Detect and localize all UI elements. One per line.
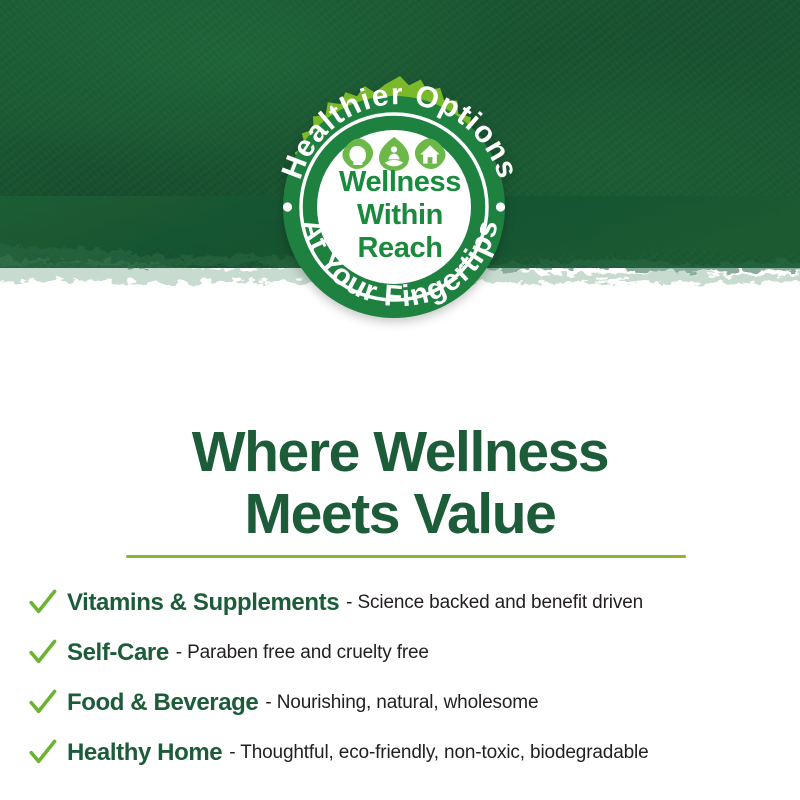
benefit-label: Vitamins & Supplements	[67, 589, 339, 617]
list-item: Healthy Home - Thoughtful, eco-friendly,…	[0, 728, 800, 778]
check-icon	[28, 638, 58, 668]
benefit-description: - Nourishing, natural, wholesome	[265, 692, 538, 714]
badge-center-line-1: Wellness	[261, 166, 539, 199]
headline-line-1: Where Wellness	[0, 421, 800, 483]
list-item: Self-Care - Paraben free and cruelty fre…	[0, 628, 800, 678]
badge-center-text: Wellness Within Reach	[261, 166, 539, 265]
wellness-badge: Healthier Options At Your Fingertips	[261, 74, 539, 340]
benefits-list: Vitamins & Supplements - Science backed …	[0, 578, 800, 778]
benefit-description: - Thoughtful, eco-friendly, non-toxic, b…	[229, 742, 648, 764]
page-title: Where Wellness Meets Value	[0, 421, 800, 545]
check-icon	[28, 738, 58, 768]
headline-line-2: Meets Value	[0, 483, 800, 545]
promo-banner: Healthier Options At Your Fingertips	[0, 0, 800, 800]
benefit-description: - Paraben free and cruelty free	[176, 642, 429, 664]
benefit-description: - Science backed and benefit driven	[346, 592, 643, 614]
list-item: Food & Beverage - Nourishing, natural, w…	[0, 678, 800, 728]
benefit-label: Food & Beverage	[67, 689, 258, 717]
benefit-label: Self-Care	[67, 639, 169, 667]
badge-center-line-3: Reach	[261, 232, 539, 265]
title-divider	[126, 555, 686, 558]
check-icon	[28, 688, 58, 718]
benefit-label: Healthy Home	[67, 739, 222, 767]
check-icon	[28, 588, 58, 618]
list-item: Vitamins & Supplements - Science backed …	[0, 578, 800, 628]
badge-center-line-2: Within	[261, 199, 539, 232]
